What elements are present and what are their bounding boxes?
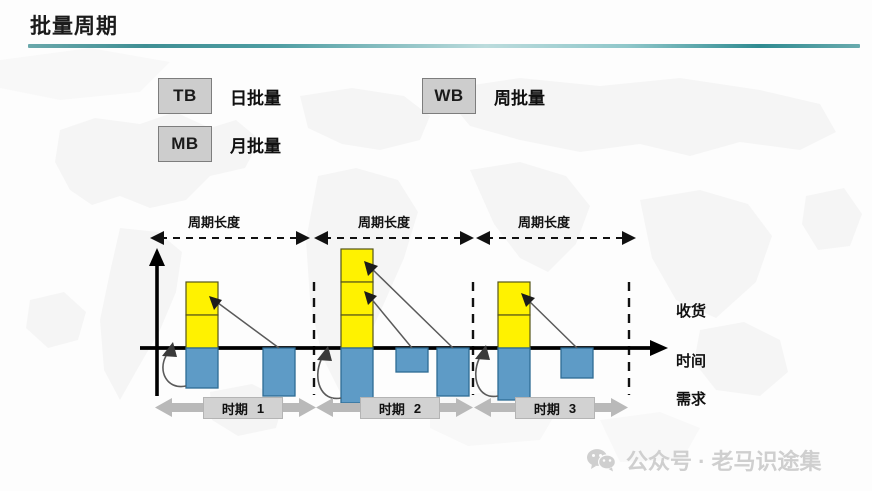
period-number-3: 3 bbox=[569, 401, 576, 416]
link-arrow-p2-2 bbox=[369, 296, 412, 348]
period-1-bars bbox=[162, 282, 295, 396]
receipt-bar-p1-seg1 bbox=[186, 315, 218, 348]
period-box-1: 时期 1 bbox=[203, 397, 283, 419]
axis-caption-demand: 需求 bbox=[676, 388, 706, 409]
period-box-3: 时期 3 bbox=[515, 397, 595, 419]
period-box-2: 时期 2 bbox=[360, 397, 440, 419]
rollup-curve-p1 bbox=[163, 356, 186, 387]
page-title: 批量周期 bbox=[30, 10, 118, 40]
legend-label-mb: 月批量 bbox=[230, 132, 281, 157]
demand-bar-p3-2 bbox=[561, 348, 593, 378]
axis-caption-time: 时间 bbox=[676, 350, 706, 371]
legend-item-monthly-lot[interactable]: MB 月批量 bbox=[158, 126, 281, 162]
period-2-bars bbox=[317, 249, 469, 403]
demand-bar-p2-3 bbox=[437, 348, 469, 396]
period-label-1: 时期 bbox=[222, 399, 248, 418]
receipt-bar-p3-seg1 bbox=[498, 315, 530, 348]
link-arrow-p1-2 bbox=[214, 300, 279, 348]
watermark-text: 公众号 · 老马识途集 bbox=[626, 444, 822, 476]
legend-chip-tb: TB bbox=[158, 78, 212, 114]
link-arrow-p2-3 bbox=[369, 266, 453, 348]
period-label-2: 时期 bbox=[379, 399, 405, 418]
y-axis bbox=[149, 248, 165, 396]
period-number-2: 2 bbox=[414, 401, 421, 416]
legend-chip-wb: WB bbox=[422, 78, 476, 114]
legend-item-weekly-lot[interactable]: WB 周批量 bbox=[422, 78, 545, 114]
legend-item-daily-lot[interactable]: TB 日批量 bbox=[158, 78, 281, 114]
demand-bar-p2-2 bbox=[396, 348, 428, 372]
wechat-watermark: 公众号 · 老马识途集 bbox=[586, 444, 822, 476]
axis-caption-receipt: 收货 bbox=[676, 300, 706, 321]
rollup-curve-p3 bbox=[476, 359, 498, 396]
rollup-curve-p2 bbox=[318, 360, 341, 398]
slide-canvas: 批量周期 TB 日批量 MB 月批量 WB 周批量 周期长度 周期长度 周期长度 bbox=[0, 0, 872, 491]
legend-chip-mb: MB bbox=[158, 126, 212, 162]
period-3-bars bbox=[475, 282, 593, 400]
demand-bar-p1-2 bbox=[263, 348, 295, 396]
demand-bar-p3-1 bbox=[498, 348, 530, 400]
period-number-1: 1 bbox=[257, 401, 264, 416]
legend-label-wb: 周批量 bbox=[494, 84, 545, 109]
title-divider bbox=[28, 44, 860, 48]
wechat-icon bbox=[586, 448, 616, 472]
demand-bar-p2-1 bbox=[341, 348, 373, 403]
demand-bar-p1-1 bbox=[186, 348, 218, 388]
period-label-3: 时期 bbox=[534, 399, 560, 418]
legend-label-tb: 日批量 bbox=[230, 84, 281, 109]
lot-size-cycle-chart bbox=[0, 200, 872, 430]
receipt-bar-p2-seg1 bbox=[341, 315, 373, 348]
link-arrow-p3-2 bbox=[526, 298, 577, 348]
